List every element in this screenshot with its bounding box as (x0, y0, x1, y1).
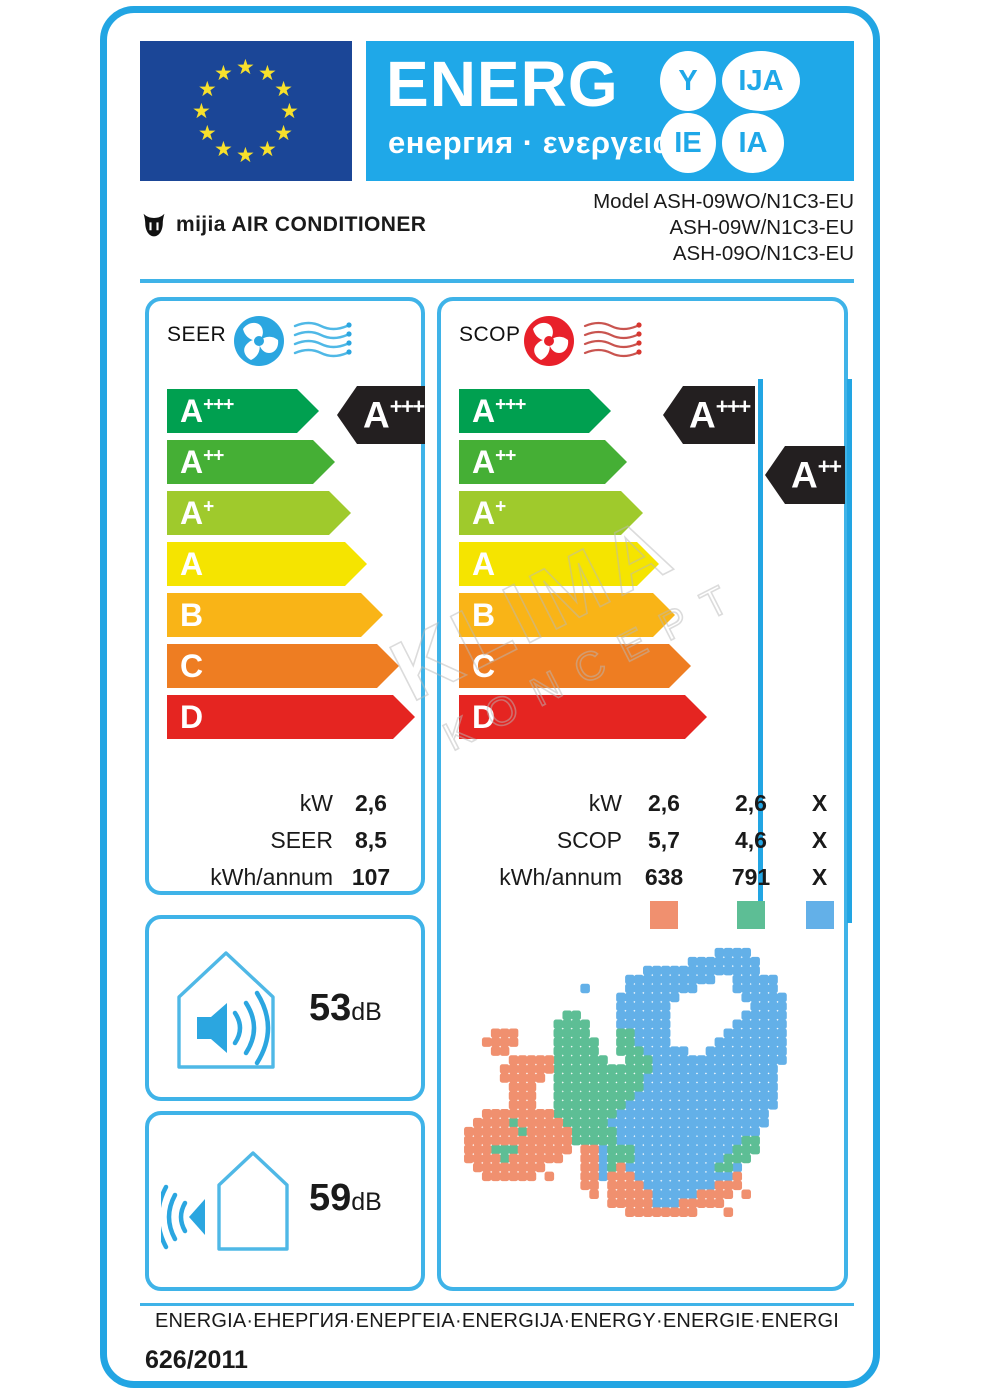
map-cell (616, 1037, 626, 1047)
map-cell (670, 1118, 680, 1128)
map-cell (661, 1037, 671, 1047)
map-cell (589, 1118, 599, 1128)
map-cell (759, 1109, 769, 1119)
map-cell (473, 1154, 483, 1164)
map-cell (625, 1046, 635, 1056)
map-cell (473, 1136, 483, 1146)
map-cell (661, 1046, 671, 1056)
map-cell (643, 1198, 653, 1208)
map-cell (527, 1082, 537, 1092)
outdoor-noise-panel: 59dB (145, 1111, 425, 1291)
map-cell (536, 1073, 546, 1083)
map-cell (545, 1118, 555, 1128)
map-cell (741, 1046, 751, 1056)
map-cell (518, 1082, 528, 1092)
cooling-title: SEER (167, 323, 226, 347)
map-cell (518, 1064, 528, 1074)
map-cell (491, 1037, 501, 1047)
map-cell (500, 1064, 510, 1074)
zone-swatch-average (737, 901, 765, 929)
map-cell (643, 1002, 653, 1012)
cooling-class-a0: A (167, 542, 367, 586)
map-cell (706, 1145, 716, 1155)
map-cell (509, 1073, 519, 1083)
map-cell (545, 1154, 555, 1164)
heating-value-average: 4,6 (706, 827, 796, 854)
map-cell (777, 1011, 787, 1021)
map-cell (697, 1064, 707, 1074)
map-cell (598, 1073, 608, 1083)
map-cell (473, 1127, 483, 1137)
map-cell (741, 993, 751, 1003)
map-cell (607, 1198, 617, 1208)
map-cell (625, 1109, 635, 1119)
cooling-row-value: 2,6 (333, 790, 409, 817)
map-cell (750, 1055, 760, 1065)
map-cell (741, 1145, 751, 1155)
map-cell (589, 1181, 599, 1191)
map-cell (580, 1127, 590, 1137)
map-cell (518, 1136, 528, 1146)
map-cell (616, 1198, 626, 1208)
map-cell (509, 1172, 519, 1182)
map-cell (679, 1207, 689, 1217)
map-cell (652, 1198, 662, 1208)
map-cell (759, 1091, 769, 1101)
map-cell (688, 1172, 698, 1182)
map-cell (643, 1163, 653, 1173)
map-cell (625, 1100, 635, 1110)
map-cell (607, 1064, 617, 1074)
map-cell (616, 1109, 626, 1119)
map-cell (750, 1028, 760, 1038)
indoor-db-number: 53 (309, 987, 351, 1029)
map-cell (741, 948, 751, 958)
map-cell (491, 1163, 501, 1173)
map-cell (625, 1118, 635, 1128)
map-cell (724, 1190, 734, 1200)
map-cell (634, 1019, 644, 1029)
map-cell (715, 1190, 725, 1200)
map-cell (679, 975, 689, 985)
class-label: A (472, 548, 495, 580)
map-cell (527, 1127, 537, 1137)
map-cell (688, 1055, 698, 1065)
map-cell (527, 1055, 537, 1065)
map-cell (625, 993, 635, 1003)
map-cell (482, 1172, 492, 1182)
speaker-outside-house-icon (161, 1137, 291, 1270)
map-cell (679, 1100, 689, 1110)
map-cell (750, 1145, 760, 1155)
map-cell (732, 1145, 742, 1155)
map-cell (643, 966, 653, 976)
map-cell (616, 1019, 626, 1029)
map-cell (732, 1082, 742, 1092)
map-cell (661, 966, 671, 976)
map-cell (715, 1064, 725, 1074)
cooling-row-value: 8,5 (333, 827, 409, 854)
brand-name: mijia (176, 213, 226, 236)
indoor-noise-panel: 53dB (145, 915, 425, 1101)
map-cell (643, 1118, 653, 1128)
map-cell (527, 1064, 537, 1074)
map-cell (750, 1118, 760, 1128)
map-cell (679, 1181, 689, 1191)
map-cell (545, 1127, 555, 1137)
map-cell (598, 1064, 608, 1074)
map-cell (706, 1109, 716, 1119)
map-cell (571, 1109, 581, 1119)
map-cell (661, 1011, 671, 1021)
map-cell (732, 1073, 742, 1083)
heating-panel: SCOP (437, 297, 848, 1291)
map-cell (643, 1127, 653, 1137)
map-cell (589, 1145, 599, 1155)
footer-languages: ENERGIA·ЕНЕРГИЯ·ΕΝΕΡΓΕΙΑ·ENERGIJA·ENERGY… (140, 1310, 854, 1333)
map-cell (571, 1118, 581, 1128)
map-cell (536, 1064, 546, 1074)
heating-class-d0: D (459, 695, 707, 739)
map-cell (706, 1198, 716, 1208)
map-cell (759, 1011, 769, 1021)
map-cell (625, 1190, 635, 1200)
indoor-noise-value: 53dB (309, 987, 382, 1030)
map-cell (661, 1127, 671, 1137)
map-cell (589, 1064, 599, 1074)
map-cell (554, 1046, 564, 1056)
zone-swatch-warmer (650, 901, 678, 929)
map-cell (741, 1019, 751, 1029)
map-cell (732, 975, 742, 985)
map-cell (554, 1091, 564, 1101)
europe-climate-zones-map (455, 931, 833, 1279)
map-cell (527, 1100, 537, 1110)
map-cell (688, 1190, 698, 1200)
map-cell (562, 1011, 572, 1021)
map-cell (634, 1046, 644, 1056)
map-cell (706, 1055, 716, 1065)
map-cell (545, 1145, 555, 1155)
map-cell (688, 1073, 698, 1083)
map-cell (768, 1011, 778, 1021)
map-cell (670, 966, 680, 976)
cooling-row: kWh/annum107 (157, 859, 415, 896)
map-cell (598, 1091, 608, 1101)
map-cell (697, 1181, 707, 1191)
map-cell (482, 1145, 492, 1155)
map-cell (500, 1172, 510, 1182)
cooling-class-b0: B (167, 593, 383, 637)
map-cell (697, 966, 707, 976)
map-cell (634, 1207, 644, 1217)
map-cell (724, 1055, 734, 1065)
map-cell (732, 1037, 742, 1047)
map-cell (616, 1002, 626, 1012)
map-cell (589, 1082, 599, 1092)
map-cell (643, 984, 653, 994)
map-cell (741, 1037, 751, 1047)
map-cell (679, 1046, 689, 1056)
class-label: A+ (180, 497, 213, 529)
map-cell (670, 1207, 680, 1217)
eu-star: ★ (274, 123, 293, 144)
map-cell (741, 1073, 751, 1083)
eu-star: ★ (214, 63, 233, 84)
map-cell (706, 1172, 716, 1182)
map-cell (625, 1181, 635, 1191)
map-cell (732, 948, 742, 958)
map-cell (634, 1091, 644, 1101)
map-cell (706, 1127, 716, 1137)
class-label: A (180, 548, 203, 580)
map-cell (589, 1190, 599, 1200)
map-cell (625, 984, 635, 994)
map-cell (634, 984, 644, 994)
map-cell (732, 984, 742, 994)
map-cell (562, 1136, 572, 1146)
map-cell (741, 1064, 751, 1074)
map-cell (518, 1091, 528, 1101)
eu-flag: ★★★★★★★★★★★★ (140, 41, 352, 181)
map-cell (616, 1091, 626, 1101)
map-cell (607, 1109, 617, 1119)
map-cell (562, 1055, 572, 1065)
map-cell (509, 1154, 519, 1164)
map-cell (571, 1127, 581, 1137)
map-cell (509, 1091, 519, 1101)
footer-divider (140, 1303, 854, 1306)
swatch-cell-warmer (622, 901, 706, 929)
map-cell (724, 1172, 734, 1182)
class-label: A+++ (472, 395, 525, 427)
map-cell (777, 1037, 787, 1047)
map-cell (625, 1011, 635, 1021)
map-cell (518, 1172, 528, 1182)
map-cell (634, 1037, 644, 1047)
map-cell (688, 1163, 698, 1173)
class-label: D (180, 701, 203, 733)
map-cell (643, 993, 653, 1003)
map-cell (715, 1082, 725, 1092)
fan-cooling-icon (229, 311, 409, 376)
map-cell (661, 1028, 671, 1038)
map-cell (759, 1002, 769, 1012)
map-cell (580, 1172, 590, 1182)
map-cell (643, 1181, 653, 1191)
map-cell (589, 1046, 599, 1056)
eu-star: ★ (192, 101, 211, 122)
map-cell (634, 1028, 644, 1038)
map-cell (661, 975, 671, 985)
speaker-inside-house-icon (167, 939, 285, 1082)
map-cell (661, 1145, 671, 1155)
map-cell (562, 1037, 572, 1047)
map-cell (661, 1100, 671, 1110)
map-cell (706, 1100, 716, 1110)
cooling-class-a1: A+ (167, 491, 351, 535)
map-cell (607, 1127, 617, 1137)
map-cell (652, 1011, 662, 1021)
map-cell (562, 1109, 572, 1119)
map-cell (670, 1091, 680, 1101)
map-cell (750, 993, 760, 1003)
cooling-row-label: kWh/annum (157, 864, 333, 891)
map-cell (464, 1127, 474, 1137)
map-cell (688, 1082, 698, 1092)
map-cell (554, 1037, 564, 1047)
map-cell (545, 1055, 555, 1065)
map-cell (580, 1019, 590, 1029)
map-cell (500, 1028, 510, 1038)
map-cell (715, 1181, 725, 1191)
map-cell (589, 1163, 599, 1173)
map-cell (724, 1046, 734, 1056)
map-cell (759, 975, 769, 985)
map-cell (732, 1064, 742, 1074)
heating-class-a3: A+++ (459, 389, 611, 433)
map-cell (554, 1118, 564, 1128)
map-cell (634, 975, 644, 985)
map-cell (527, 1091, 537, 1101)
map-cell (509, 1055, 519, 1065)
map-cell (688, 1109, 698, 1119)
map-cell (482, 1136, 492, 1146)
map-cell (715, 966, 725, 976)
map-cell (697, 1163, 707, 1173)
map-cell (670, 1055, 680, 1065)
map-cell (750, 1082, 760, 1092)
map-cell (732, 1055, 742, 1065)
zone-swatch-row (447, 896, 843, 933)
map-cell (652, 1172, 662, 1182)
map-cell (724, 1118, 734, 1128)
eu-star: ★ (280, 101, 299, 122)
map-cell (697, 1172, 707, 1182)
map-cell (750, 1127, 760, 1137)
map-cell (562, 1118, 572, 1128)
map-cell (643, 1136, 653, 1146)
map-cell (768, 1055, 778, 1065)
map-cell (634, 1073, 644, 1083)
map-cell (652, 993, 662, 1003)
map-cell (518, 1109, 528, 1119)
map-cell (616, 1118, 626, 1128)
map-cell (643, 1172, 653, 1182)
map-cell (562, 1073, 572, 1083)
map-cell (652, 966, 662, 976)
map-cell (706, 1118, 716, 1128)
map-cell (768, 1019, 778, 1029)
map-cell (759, 984, 769, 994)
cooling-values-table: kW2,6SEER8,5kWh/annum107 (157, 785, 415, 896)
map-cell (634, 1198, 644, 1208)
map-cell (679, 984, 689, 994)
map-cell (652, 1109, 662, 1119)
map-cell (607, 1136, 617, 1146)
map-cell (518, 1118, 528, 1128)
map-cell (634, 1011, 644, 1021)
map-cell (527, 1163, 537, 1173)
heating-row: SCOP5,74,6X (447, 822, 843, 859)
heating-value-average: 2,6 (706, 790, 796, 817)
map-cell (518, 1163, 528, 1173)
map-cell (697, 1055, 707, 1065)
map-cell (536, 1055, 546, 1065)
map-cell (741, 1136, 751, 1146)
map-cell (491, 1109, 501, 1119)
rating-label: A++ (791, 456, 840, 493)
cooling-row: kW2,6 (157, 785, 415, 822)
map-cell (759, 1055, 769, 1065)
map-cell (670, 975, 680, 985)
map-cell (625, 1002, 635, 1012)
map-cell (741, 1109, 751, 1119)
map-cell (715, 1136, 725, 1146)
cooling-class-c0: C (167, 644, 399, 688)
map-cell (589, 1109, 599, 1119)
map-cell (545, 1172, 555, 1182)
brand-block: mijia AIR CONDITIONER (140, 211, 426, 239)
outdoor-noise-value: 59dB (309, 1177, 382, 1220)
map-cell (509, 1028, 519, 1038)
map-cell (598, 1082, 608, 1092)
heating-class-a2: A++ (459, 440, 627, 484)
map-cell (759, 1046, 769, 1056)
energy-label-frame: ★★★★★★★★★★★★ ENERG енергия · ενεργεια Y … (100, 6, 880, 1388)
map-cell (509, 1082, 519, 1092)
map-cell (732, 1046, 742, 1056)
map-cell (554, 1064, 564, 1074)
map-cell (554, 1073, 564, 1083)
map-cell (509, 1064, 519, 1074)
map-cell (732, 1172, 742, 1182)
heating-value-colder: X (796, 864, 843, 891)
map-cell (643, 1055, 653, 1065)
map-cell (580, 1082, 590, 1092)
map-cell (661, 1163, 671, 1173)
map-cell (750, 975, 760, 985)
map-cell (491, 1127, 501, 1137)
map-cell (554, 1127, 564, 1137)
map-cell (598, 1118, 608, 1128)
map-cell (598, 1100, 608, 1110)
map-cell (661, 1019, 671, 1029)
map-cell (750, 966, 760, 976)
map-cell (536, 1145, 546, 1155)
map-cell (616, 993, 626, 1003)
map-cell (607, 1181, 617, 1191)
map-cell (580, 1163, 590, 1173)
map-cell (625, 1019, 635, 1029)
map-cell (679, 1073, 689, 1083)
map-cell (616, 1163, 626, 1173)
map-cell (589, 1136, 599, 1146)
map-cell (500, 1127, 510, 1137)
bubble-y: Y (660, 51, 716, 111)
map-cell (661, 1118, 671, 1128)
map-cell (741, 1091, 751, 1101)
map-cell (652, 1046, 662, 1056)
map-cell (715, 1037, 725, 1047)
map-cell (562, 1019, 572, 1029)
heating-value-colder: X (796, 827, 843, 854)
map-cell (706, 1046, 716, 1056)
map-cell (741, 1082, 751, 1092)
map-cell (652, 1064, 662, 1074)
heating-values-table: kW2,62,6XSCOP5,74,6XkWh/annum638791X (447, 785, 843, 933)
map-cell (732, 1181, 742, 1191)
